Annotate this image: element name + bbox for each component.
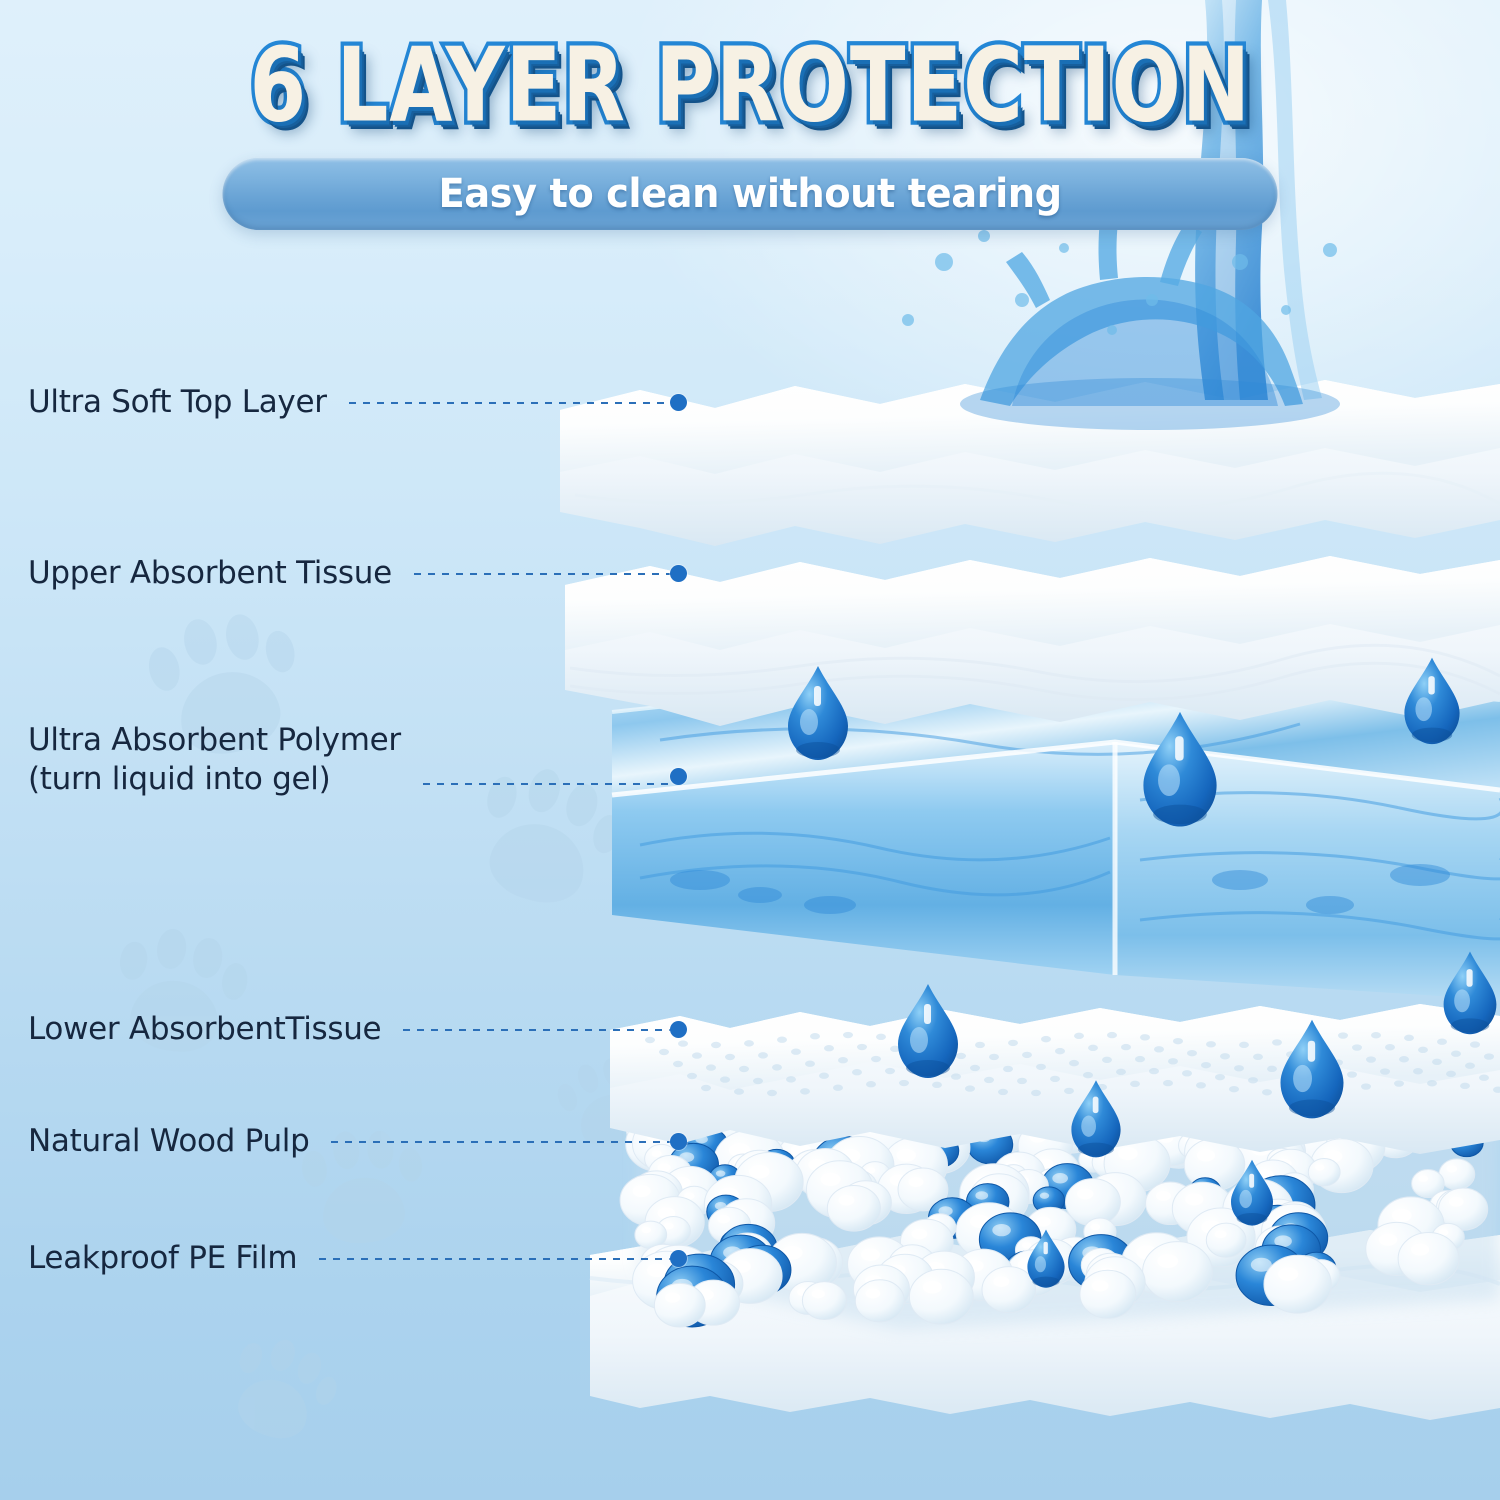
callout-label-line2: (turn liquid into gel)	[28, 760, 401, 799]
subtitle-banner: Easy to clean without tearing	[223, 158, 1278, 230]
callout-leader-line	[319, 1258, 671, 1260]
callout-dot	[670, 394, 687, 411]
headline-container: 6 LAYER PROTECTION	[0, 34, 1500, 118]
callout-leader-line	[403, 1029, 671, 1031]
callout-ultra-absorbent-polymer: Ultra Absorbent Polymer(turn liquid into…	[28, 721, 687, 799]
callout-leakproof-pe-film: Leakproof PE Film	[28, 1240, 687, 1278]
callout-dot	[670, 1133, 687, 1150]
layer-lower-absorbent-tissue	[610, 1004, 1500, 1154]
callout-label: Leakproof PE Film	[28, 1240, 297, 1278]
callout-upper-absorbent-tissue: Upper Absorbent Tissue	[28, 555, 687, 593]
callout-label: Natural Wood Pulp	[28, 1123, 309, 1161]
subtitle-text: Easy to clean without tearing	[438, 171, 1061, 217]
callout-dot	[670, 768, 687, 785]
callout-label: Ultra Soft Top Layer	[28, 384, 327, 422]
callout-leader-line	[331, 1141, 671, 1143]
layer-upper-absorbent-tissue	[565, 556, 1500, 726]
callout-dot	[670, 565, 687, 582]
callout-leader-line	[423, 783, 671, 785]
callout-label: Ultra Absorbent Polymer(turn liquid into…	[28, 721, 401, 799]
callout-dot	[670, 1250, 687, 1267]
callout-dot	[670, 1021, 687, 1038]
infographic-canvas: Ultra Soft Top LayerUpper Absorbent Tiss…	[0, 0, 1500, 1500]
callout-leader-line	[414, 573, 671, 575]
page-title: 6 LAYER PROTECTION	[249, 34, 1251, 136]
callout-lower-absorbenttissue: Lower AbsorbentTissue	[28, 1011, 687, 1049]
callout-leader-line	[349, 402, 671, 404]
callout-natural-wood-pulp: Natural Wood Pulp	[28, 1123, 687, 1161]
water-droplet-icon	[898, 984, 958, 1078]
callout-ultra-soft-top-layer: Ultra Soft Top Layer	[28, 384, 687, 422]
callout-label: Lower AbsorbentTissue	[28, 1011, 381, 1049]
callout-label: Upper Absorbent Tissue	[28, 555, 392, 593]
layer-ultra-soft-top-layer	[560, 380, 1500, 546]
